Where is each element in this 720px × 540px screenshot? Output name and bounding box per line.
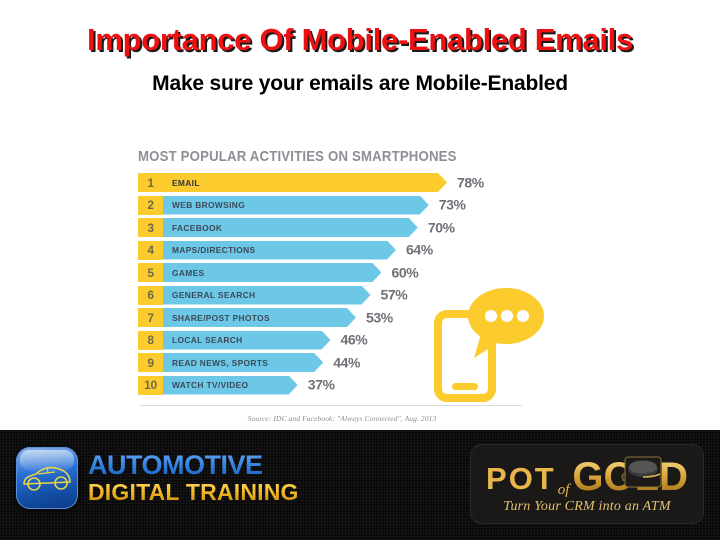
title-block: Importance Of Mobile-Enabled Emails Make…	[0, 0, 720, 96]
bar-value-label: 78%	[457, 174, 484, 190]
bar-row: 1EMAIL78%	[138, 173, 552, 192]
page-title: Importance Of Mobile-Enabled Emails	[0, 22, 720, 59]
bar-category-label: FACEBOOK	[163, 223, 222, 233]
bar-category-label: GAMES	[163, 268, 204, 278]
pot-of-gold-wordmark: POT of GOLD	[486, 454, 688, 494]
bar-value-label: 64%	[406, 242, 433, 258]
of-word: of	[558, 483, 570, 498]
pot-word: POT	[486, 463, 556, 494]
bar-rank: 9	[138, 353, 163, 372]
bar-fill: GAMES	[163, 263, 381, 282]
bar-rank: 6	[138, 286, 163, 305]
bar-value-label: 53%	[366, 309, 393, 325]
bar-fill: READ NEWS, SPORTS	[163, 353, 323, 372]
bar-fill: EMAIL	[163, 173, 447, 192]
page-subtitle: Make sure your emails are Mobile-Enabled	[0, 72, 720, 96]
bar-rank: 3	[138, 218, 163, 237]
bar-fill: GENERAL SEARCH	[163, 286, 371, 305]
bar-category-label: GENERAL SEARCH	[163, 290, 255, 300]
bar-value-label: 73%	[439, 197, 466, 213]
bar-category-label: WATCH TV/VIDEO	[163, 380, 248, 390]
car-badge-icon	[16, 447, 78, 509]
bar-rank: 10	[138, 376, 163, 395]
bar-row: 7SHARE/POST PHOTOS53%	[138, 308, 552, 327]
bar-row: 9READ NEWS, SPORTS44%	[138, 353, 552, 372]
bar-category-label: EMAIL	[163, 178, 200, 188]
bar-rank: 5	[138, 263, 163, 282]
bar-value-label: 57%	[381, 287, 408, 303]
bar-row: 4MAPS/DIRECTIONS64%	[138, 241, 552, 260]
footer-banner: AUTOMOTIVE DIGITAL TRAINING POT of GOLD …	[0, 430, 720, 540]
bar-row: 6GENERAL SEARCH57%	[138, 286, 552, 305]
automotive-digital-training-logo[interactable]: AUTOMOTIVE DIGITAL TRAINING	[16, 447, 299, 509]
bar-value-label: 46%	[340, 332, 367, 348]
card-divider	[140, 405, 522, 406]
bar-value-label: 70%	[428, 219, 455, 235]
chart-title: MOST POPULAR ACTIVITIES ON SMARTPHONES	[138, 148, 502, 165]
bar-category-label: MAPS/DIRECTIONS	[163, 245, 255, 255]
bar-rank: 1	[138, 173, 163, 192]
bar-category-label: LOCAL SEARCH	[163, 335, 243, 345]
bar-fill: WEB BROWSING	[163, 196, 429, 215]
bar-fill: WATCH TV/VIDEO	[163, 376, 298, 395]
bar-rank: 7	[138, 308, 163, 327]
bar-category-label: WEB BROWSING	[163, 200, 245, 210]
bar-row: 10WATCH TV/VIDEO37%	[138, 376, 552, 395]
automotive-logo-line1: AUTOMOTIVE	[88, 452, 299, 479]
bar-chart: 1EMAIL78%2WEB BROWSING73%3FACEBOOK70%4MA…	[138, 173, 552, 395]
bar-fill: LOCAL SEARCH	[163, 331, 330, 350]
bar-row: 8LOCAL SEARCH46%	[138, 331, 552, 350]
bar-row: 5GAMES60%	[138, 263, 552, 282]
chart-source-note: Source: IDC and Facebook: "Always Connec…	[132, 414, 552, 423]
pot-of-gold-tagline: Turn Your CRM into an ATM	[503, 499, 670, 515]
bar-category-label: READ NEWS, SPORTS	[163, 358, 268, 368]
bar-row: 2WEB BROWSING73%	[138, 196, 552, 215]
bar-fill: MAPS/DIRECTIONS	[163, 241, 396, 260]
automotive-logo-line2: DIGITAL TRAINING	[88, 481, 299, 504]
bar-category-label: SHARE/POST PHOTOS	[163, 313, 270, 323]
infographic-card: MOST POPULAR ACTIVITIES ON SMARTPHONES 1…	[132, 143, 552, 428]
bar-value-label: 44%	[333, 354, 360, 370]
pot-of-gold-logo[interactable]: POT of GOLD Turn Your CRM into an ATM	[470, 444, 704, 524]
bar-rank: 4	[138, 241, 163, 260]
bar-row: 3FACEBOOK70%	[138, 218, 552, 237]
bar-value-label: 60%	[391, 264, 418, 280]
bar-value-label: 37%	[308, 377, 335, 393]
gold-kettle-icon	[620, 453, 666, 493]
bar-rank: 2	[138, 196, 163, 215]
bar-rank: 8	[138, 331, 163, 350]
bar-fill: FACEBOOK	[163, 218, 418, 237]
bar-fill: SHARE/POST PHOTOS	[163, 308, 356, 327]
